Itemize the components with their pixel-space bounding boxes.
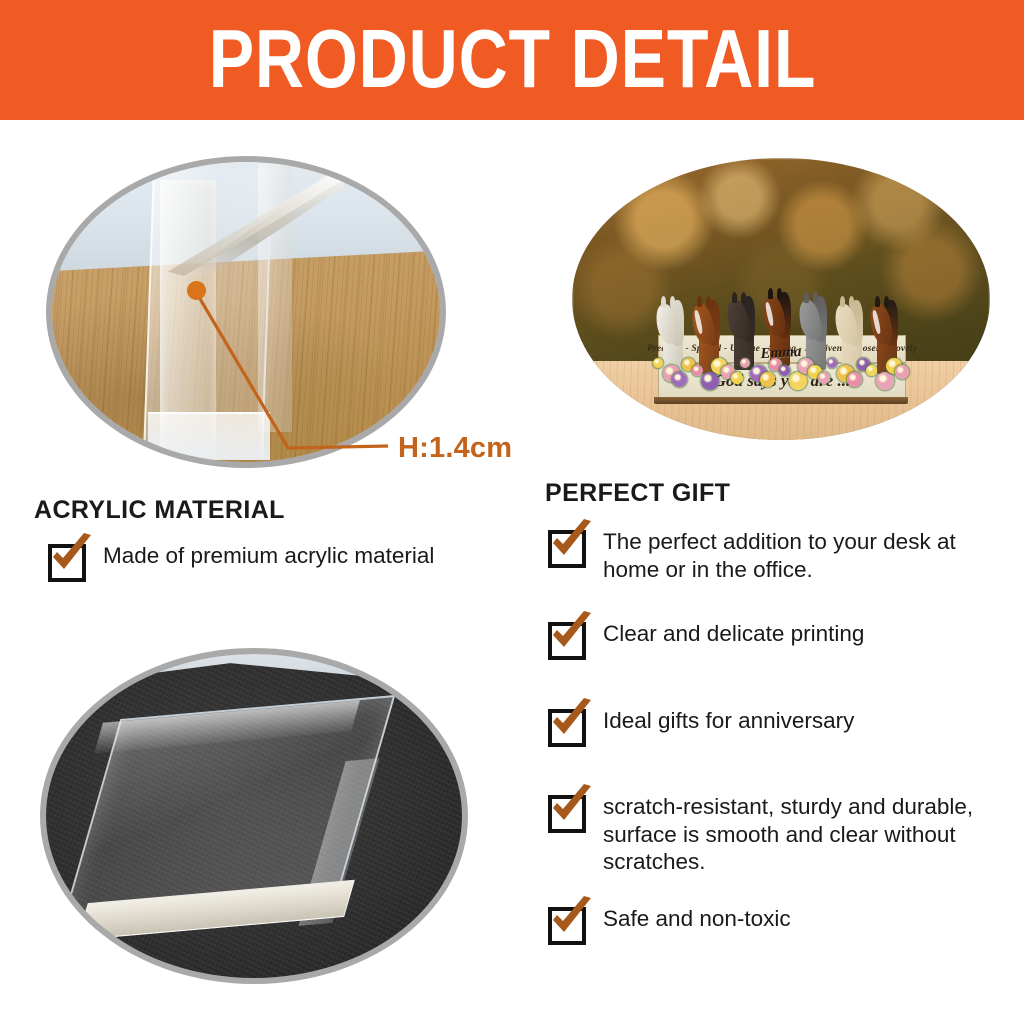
height-measurement-label: H:1.4cm (398, 432, 512, 465)
horse-ear (741, 292, 746, 303)
feature-text: Safe and non-toxic (603, 905, 791, 933)
horse-ear (706, 296, 711, 307)
horse-ear (670, 296, 675, 307)
checkbox-checked-icon (548, 709, 586, 747)
acrylic-slab-on-slate-photo (40, 648, 468, 984)
checkmark-icon (547, 894, 597, 944)
horse-ear (777, 288, 782, 299)
acrylic-material-heading: ACRYLIC MATERIAL (34, 496, 285, 525)
flower (818, 372, 830, 384)
feature-item: Safe and non-toxic (548, 905, 994, 945)
flower (653, 358, 663, 368)
feature-item: Made of premium acrylic material (48, 542, 518, 582)
acrylic-edge-on-wood-photo (46, 156, 446, 468)
flower (847, 372, 862, 387)
acrylic-block-base (148, 412, 270, 460)
feature-text: The perfect addition to your desk at hom… (603, 528, 994, 583)
flower (789, 372, 807, 390)
flower (692, 365, 703, 376)
checkbox-checked-icon (548, 530, 586, 568)
horse-ear (813, 292, 818, 303)
feature-text: Clear and delicate printing (603, 620, 864, 648)
header-banner: PRODUCT DETAIL (0, 0, 1024, 120)
horse-ear (768, 288, 773, 299)
flower (731, 372, 743, 384)
flower (779, 365, 790, 376)
checkmark-icon (547, 696, 597, 746)
measurement-dot (187, 281, 206, 300)
horse-ear (849, 296, 854, 307)
checkbox-checked-icon (548, 795, 586, 833)
wood-scene (52, 162, 440, 462)
flower (740, 358, 750, 368)
feature-text: Ideal gifts for anniversary (603, 707, 854, 735)
checkbox-checked-icon (548, 907, 586, 945)
horse-ear (804, 292, 809, 303)
flower (760, 372, 775, 387)
flower (672, 372, 687, 387)
checkmark-icon (547, 517, 597, 567)
horse-plaque-product-photo: Emma Precious - Special - Unique - Stron… (572, 158, 990, 440)
checkmark-icon (47, 531, 97, 581)
plaque-wooden-base (654, 397, 908, 404)
horse-ear (840, 296, 845, 307)
feature-item: Ideal gifts for anniversary (548, 707, 994, 747)
flower (866, 365, 877, 376)
feature-text: Made of premium acrylic material (103, 542, 434, 570)
feature-item: The perfect addition to your desk at hom… (548, 528, 994, 583)
feature-text: scratch-resistant, sturdy and durable, s… (603, 793, 1008, 876)
flower (701, 372, 719, 390)
flower (827, 358, 837, 368)
horse-ear (732, 292, 737, 303)
horse-ear (875, 296, 880, 307)
horse-ear (697, 296, 702, 307)
perfect-gift-heading: PERFECT GIFT (545, 479, 730, 508)
flower-row (655, 358, 907, 388)
checkmark-icon (547, 609, 597, 659)
feature-item: scratch-resistant, sturdy and durable, s… (548, 793, 1008, 876)
plaque-personal-name: Emma (760, 344, 802, 363)
product-detail-page: PRODUCT DETAIL Emma Precious - Special -… (0, 0, 1024, 1024)
checkbox-checked-icon (48, 544, 86, 582)
flower (876, 372, 894, 390)
checkmark-icon (547, 782, 597, 832)
feature-item: Clear and delicate printing (548, 620, 994, 660)
checkbox-checked-icon (548, 622, 586, 660)
horse-ear (884, 296, 889, 307)
page-title: PRODUCT DETAIL (208, 17, 816, 100)
horse-ear (661, 296, 666, 307)
